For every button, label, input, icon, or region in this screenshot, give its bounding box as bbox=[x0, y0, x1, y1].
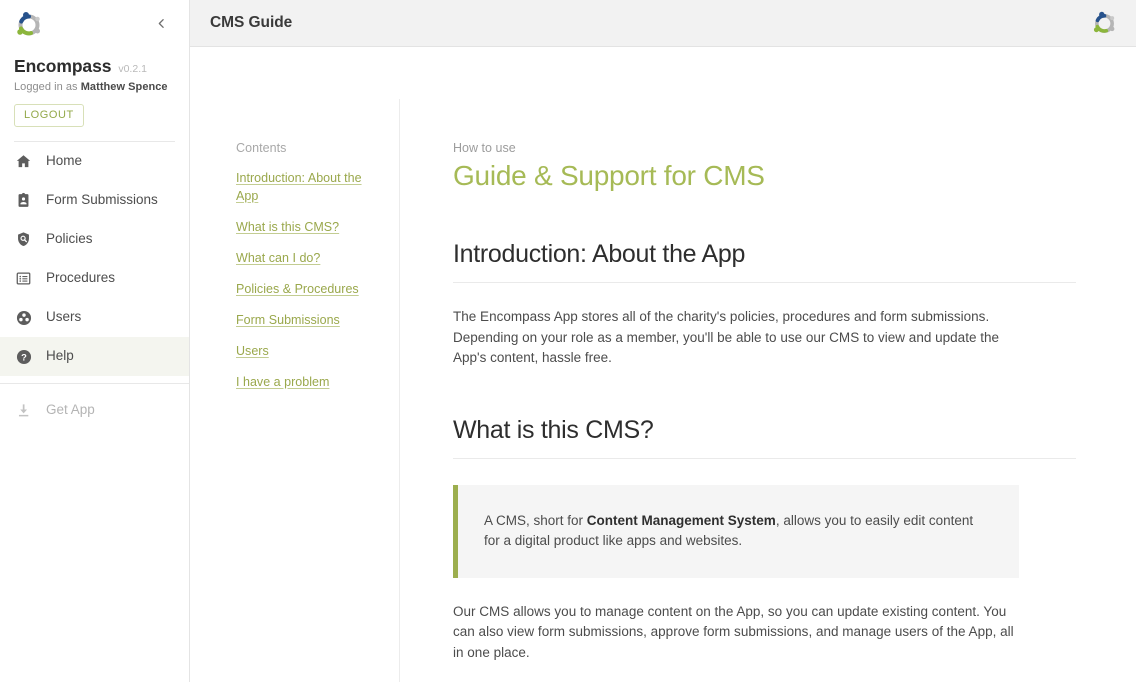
logged-in-status: Logged in as Matthew Spence bbox=[14, 81, 175, 93]
toc-list-item: I have a problem bbox=[236, 373, 373, 391]
logout-button[interactable]: LOGOUT bbox=[14, 104, 84, 127]
toc-link-4[interactable]: Form Submissions bbox=[236, 313, 340, 327]
sidebar-item-procedures[interactable]: Procedures bbox=[0, 259, 189, 298]
article: How to use Guide & Support for CMS Intro… bbox=[400, 99, 1136, 682]
section-paragraph-what-is-cms: Our CMS allows you to manage content on … bbox=[453, 602, 1019, 664]
section-heading-what-is-cms: What is this CMS? bbox=[453, 415, 1076, 459]
shield-search-icon bbox=[14, 230, 33, 249]
toc-link-5[interactable]: Users bbox=[236, 344, 269, 358]
section-heading-introduction: Introduction: About the App bbox=[453, 239, 1076, 283]
toc-list-item: What can I do? bbox=[236, 249, 373, 267]
article-title: Guide & Support for CMS bbox=[453, 158, 1076, 193]
question-circle-icon: ? bbox=[14, 347, 33, 366]
content-area: Contents Introduction: About the AppWhat… bbox=[190, 47, 1136, 682]
sidebar-item-label: Home bbox=[46, 154, 82, 169]
sidebar-collapse-button[interactable] bbox=[147, 9, 175, 37]
cms-definition-callout: A CMS, short for Content Management Syst… bbox=[453, 485, 1019, 578]
brand-row bbox=[14, 10, 175, 48]
toc-list-item: Introduction: About the App bbox=[236, 169, 373, 205]
app-name: Encompass bbox=[14, 56, 111, 77]
app-version: v0.2.1 bbox=[118, 63, 147, 75]
topbar: CMS Guide bbox=[190, 0, 1136, 47]
topbar-encompass-circle-logo[interactable] bbox=[1091, 10, 1118, 37]
toc-list: Introduction: About the AppWhat is this … bbox=[236, 169, 373, 391]
list-box-icon bbox=[14, 269, 33, 288]
app-name-row: Encompass v0.2.1 bbox=[14, 56, 175, 77]
article-eyebrow: How to use bbox=[453, 141, 1076, 155]
toc-list-item: Users bbox=[236, 342, 373, 360]
download-icon bbox=[14, 401, 33, 420]
id-badge-icon bbox=[14, 191, 33, 210]
sidebar-item-form-submissions[interactable]: Form Submissions bbox=[0, 181, 189, 220]
sidebar-header: Encompass v0.2.1 Logged in as Matthew Sp… bbox=[0, 0, 189, 142]
sidebar-footer-nav: Get App bbox=[0, 391, 189, 430]
callout-text: A CMS, short for Content Management Syst… bbox=[484, 511, 991, 552]
sidebar-item-home[interactable]: Home bbox=[0, 142, 189, 181]
sidebar: Encompass v0.2.1 Logged in as Matthew Sp… bbox=[0, 0, 190, 682]
sidebar-item-get-app: Get App bbox=[0, 391, 189, 430]
toc-list-item: What is this CMS? bbox=[236, 218, 373, 236]
toc-link-6[interactable]: I have a problem bbox=[236, 375, 329, 389]
callout-text-pre: A CMS, short for bbox=[484, 513, 587, 528]
logged-in-prefix: Logged in as bbox=[14, 81, 78, 93]
toc-link-2[interactable]: What can I do? bbox=[236, 251, 320, 265]
sidebar-item-label: Procedures bbox=[46, 271, 115, 286]
app-root: Encompass v0.2.1 Logged in as Matthew Sp… bbox=[0, 0, 1136, 682]
sidebar-footer-divider bbox=[0, 383, 189, 384]
callout-text-bold: Content Management System bbox=[587, 513, 776, 528]
sidebar-item-label: Help bbox=[46, 349, 74, 364]
home-icon bbox=[14, 152, 33, 171]
svg-text:?: ? bbox=[21, 352, 27, 362]
toc-link-3[interactable]: Policies & Procedures bbox=[236, 282, 359, 296]
toc-link-0[interactable]: Introduction: About the App bbox=[236, 171, 362, 203]
page-title: CMS Guide bbox=[210, 14, 292, 32]
toc-link-1[interactable]: What is this CMS? bbox=[236, 220, 339, 234]
chevron-left-icon bbox=[155, 17, 168, 30]
sidebar-item-help[interactable]: ?Help bbox=[0, 337, 189, 376]
sidebar-item-label: Form Submissions bbox=[46, 193, 158, 208]
main-region: CMS Guide Contents Introduction: About t… bbox=[190, 0, 1136, 682]
logged-in-username: Matthew Spence bbox=[81, 81, 168, 93]
toc-heading: Contents bbox=[236, 141, 373, 155]
sidebar-item-label: Get App bbox=[46, 403, 95, 418]
section-paragraph-introduction: The Encompass App stores all of the char… bbox=[453, 307, 1019, 369]
toc-list-item: Policies & Procedures bbox=[236, 280, 373, 298]
toc-list-item: Form Submissions bbox=[236, 311, 373, 329]
people-circle-icon bbox=[14, 308, 33, 327]
sidebar-nav: HomeForm SubmissionsPoliciesProceduresUs… bbox=[0, 142, 189, 376]
encompass-circle-logo bbox=[14, 10, 44, 40]
table-of-contents: Contents Introduction: About the AppWhat… bbox=[190, 99, 400, 682]
sidebar-item-label: Policies bbox=[46, 232, 93, 247]
sidebar-item-policies[interactable]: Policies bbox=[0, 220, 189, 259]
sidebar-item-users[interactable]: Users bbox=[0, 298, 189, 337]
sidebar-item-label: Users bbox=[46, 310, 81, 325]
